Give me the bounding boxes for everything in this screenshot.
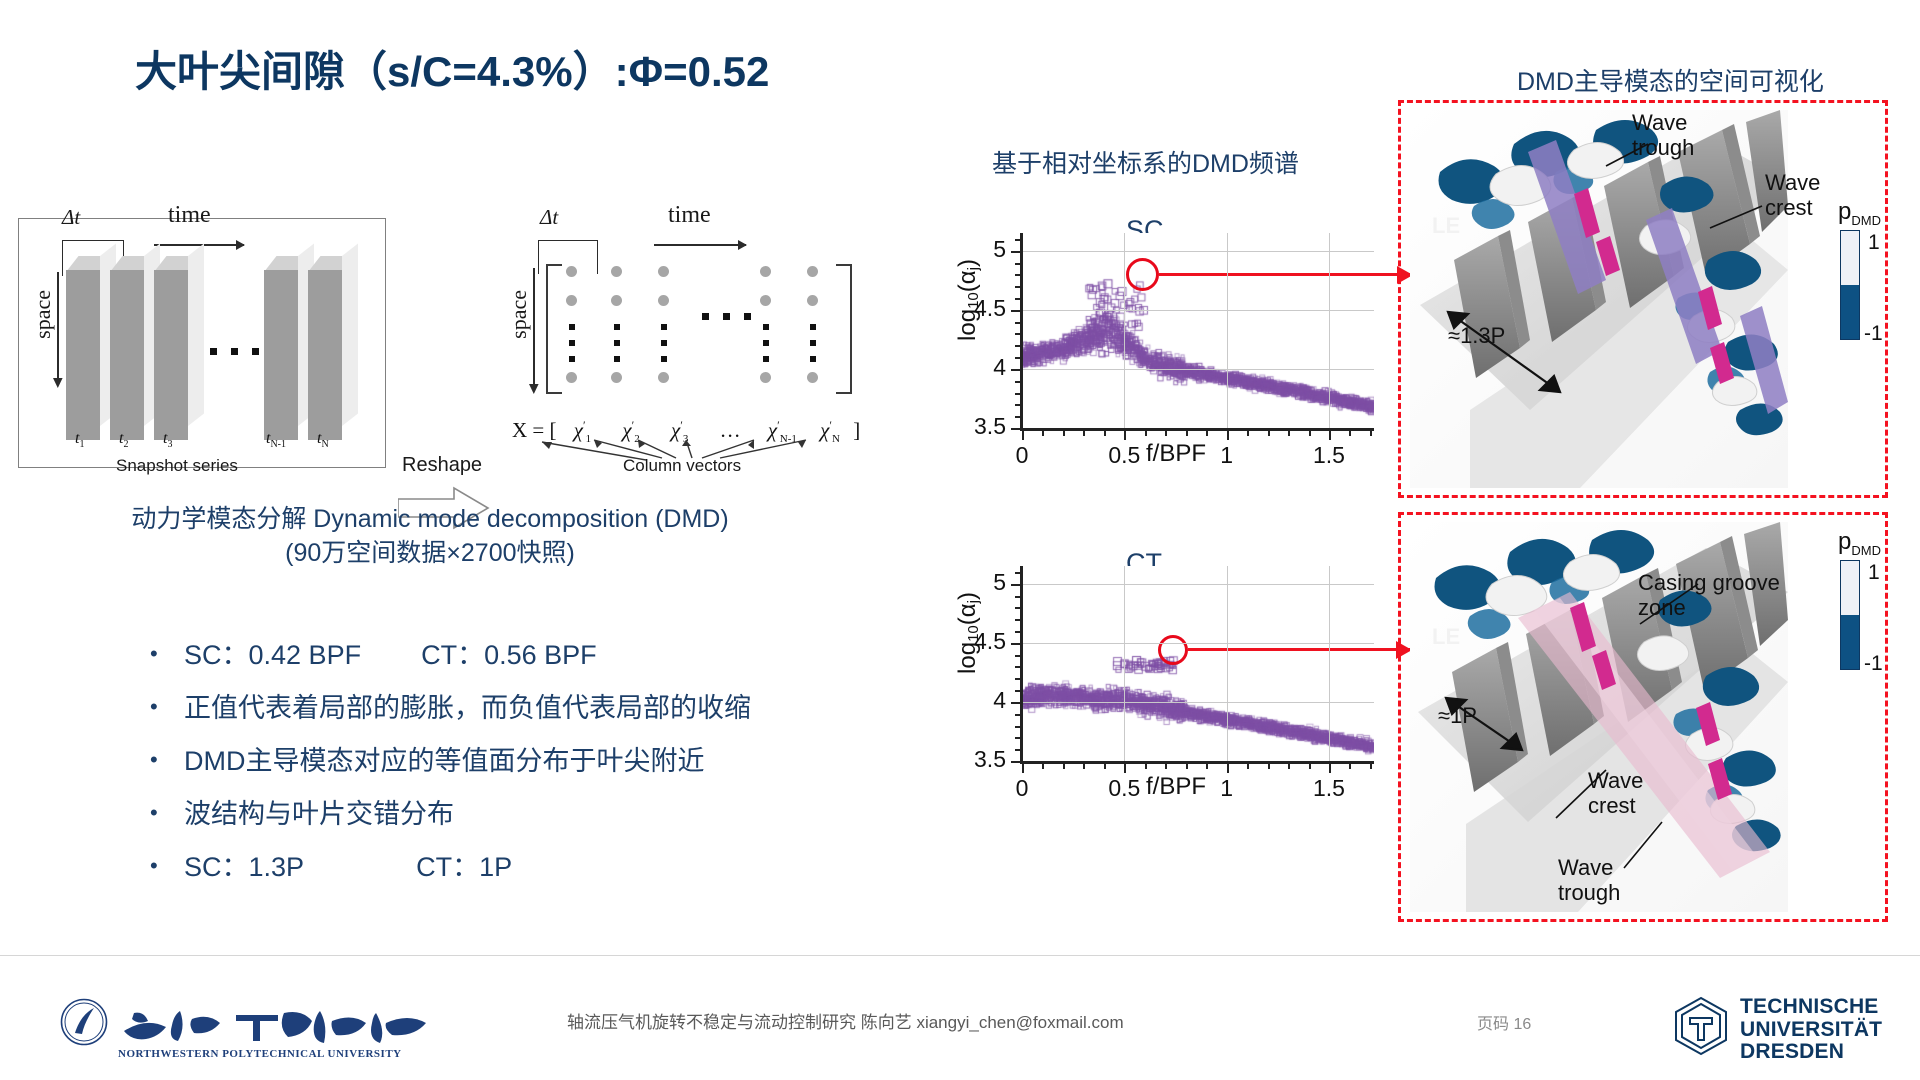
y-tick	[1011, 643, 1023, 645]
y-tick	[1015, 357, 1023, 359]
grid-line-horizontal	[1022, 643, 1374, 644]
grid-line-vertical	[1124, 566, 1125, 761]
x-tick-label: 1.5	[1304, 775, 1354, 802]
y-tick	[1015, 714, 1023, 716]
colorbar-max-bottom: 1	[1868, 561, 1880, 585]
x-tick	[1042, 428, 1044, 436]
bullet-marker-icon: •	[150, 746, 184, 775]
tud-line1: TECHNISCHE	[1740, 996, 1882, 1019]
matrix-column	[611, 266, 622, 401]
y-tick	[1015, 749, 1023, 751]
colorbar-bottom	[1840, 560, 1860, 670]
x-tick-label: 0	[997, 442, 1047, 469]
x-tick	[1124, 761, 1126, 773]
y-tick	[1015, 381, 1023, 383]
y-tick	[1015, 239, 1023, 241]
x-tick	[1206, 761, 1208, 769]
dmd-caption-line1: 动力学模态分解 Dynamic mode decomposition (DMD)	[110, 503, 750, 537]
y-tick	[1015, 345, 1023, 347]
x-tick	[1247, 428, 1249, 436]
dmd-caption-line2: (90万空间数据×2700快照)	[110, 537, 750, 571]
x-tick-label: 1	[1202, 442, 1252, 469]
list-item-text: 正值代表着局部的膨胀，而负值代表局部的收缩	[184, 693, 751, 724]
pitch-label-bottom: ≈1P	[1438, 703, 1477, 728]
x-axis-label-sc: f/BPF	[1146, 440, 1206, 468]
x-tick	[1042, 761, 1044, 769]
grid-line-horizontal	[1022, 251, 1374, 252]
x-tick	[1165, 761, 1167, 769]
y-tick-label: 4.5	[960, 628, 1006, 655]
x-axis-label-ct: f/BPF	[1146, 773, 1206, 801]
y-tick-label: 4	[960, 687, 1006, 714]
delta-t-bar-b	[538, 240, 598, 241]
list-item: • 正值代表着局部的膨胀，而负值代表局部的收缩	[150, 693, 870, 724]
dmd-schematic: Δt time space t1 t2	[18, 218, 884, 468]
y-tick	[1015, 666, 1023, 668]
delta-t-bar-a	[62, 240, 124, 241]
y-tick	[1015, 333, 1023, 335]
page-number: 页码 16	[1477, 1010, 1531, 1034]
x-tick	[1022, 761, 1024, 773]
time-tick-label: t3	[163, 430, 172, 450]
y-tick	[1015, 416, 1023, 418]
x-tick	[1022, 428, 1024, 440]
x-tick	[1227, 761, 1229, 773]
y-tick	[1011, 702, 1023, 704]
wave-crest-label-bottom: Wavecrest	[1588, 768, 1643, 819]
y-tick	[1011, 369, 1023, 371]
y-tick-label: 4.5	[960, 295, 1006, 322]
space-label-b: space	[506, 290, 532, 339]
delta-t-label-b: Δt	[540, 205, 558, 230]
x-tick	[1186, 761, 1188, 769]
chart-sc: SC log10(αj) f/BPF 3.544.5500.511.5	[960, 225, 1400, 465]
x-tick	[1268, 428, 1270, 436]
x-tick	[1206, 428, 1208, 436]
list-item-text: DMD主导模态对应的等值面分布于叶尖附近	[184, 746, 705, 777]
space-arrow-b	[533, 268, 535, 390]
x-tick	[1083, 761, 1085, 769]
highlight-circle-ct	[1158, 635, 1188, 665]
time-label-a: time	[168, 202, 211, 229]
le-label-bottom: LE	[1432, 624, 1460, 649]
delta-t-label-a: Δt	[62, 205, 80, 230]
matrix-bracket-left	[546, 264, 562, 394]
tud-logo-text: TECHNISCHE UNIVERSITÄT DRESDEN	[1740, 996, 1882, 1064]
y-tick	[1015, 678, 1023, 680]
spectra-heading: 基于相对坐标系的DMD频谱	[992, 144, 1299, 180]
pitch-label-top: ≈1.3P	[1448, 323, 1505, 348]
wave-trough-label-bottom: Wavetrough	[1558, 855, 1620, 906]
y-tick	[1015, 404, 1023, 406]
colorbar-top	[1840, 230, 1860, 340]
x-tick	[1288, 761, 1290, 769]
y-tick	[1015, 596, 1023, 598]
x-tick	[1063, 428, 1065, 436]
tud-logo-icon	[1672, 996, 1730, 1056]
ellipsis-dots-a	[210, 348, 259, 355]
delta-t-tick-b2	[597, 240, 598, 274]
callout-arrow-ct	[1188, 648, 1410, 651]
x-tick	[1288, 428, 1290, 436]
colorbar-low-bottom	[1841, 615, 1859, 669]
callout-arrow-sc	[1159, 273, 1411, 276]
space-label-a: space	[30, 290, 56, 339]
time-label-b: time	[668, 202, 711, 229]
y-tick	[1015, 572, 1023, 574]
x-tick	[1349, 428, 1351, 436]
ellipsis-dots-b	[702, 313, 751, 320]
colorbar-title-top: pDMD	[1838, 198, 1881, 228]
list-item-text: SC：1.3P CT：1P	[184, 852, 512, 883]
matrix-column	[566, 266, 577, 401]
y-tick-label: 5	[960, 236, 1006, 263]
matrix-column	[760, 266, 771, 401]
y-tick	[1011, 310, 1023, 312]
chart-ct: CT log10(αj) f/BPF 3.544.5500.511.5	[960, 558, 1400, 798]
x-tick	[1145, 761, 1147, 769]
bullet-marker-icon: •	[150, 693, 184, 722]
y-tick	[1011, 251, 1023, 253]
x-tick-label: 1.5	[1304, 442, 1354, 469]
y-tick	[1015, 286, 1023, 288]
bullet-list: • SC：0.42 BPF CT：0.56 BPF • 正值代表着局部的膨胀，而…	[150, 640, 870, 905]
x-axis	[1022, 428, 1374, 431]
nwpu-logo-icon	[60, 998, 108, 1046]
viz-heading: DMD主导模态的空间可视化	[1517, 62, 1824, 98]
y-tick	[1015, 322, 1023, 324]
wave-trough-label-top: Wavetrough	[1632, 110, 1694, 161]
blade-passage-render-top	[1410, 110, 1788, 488]
space-arrow-a	[57, 272, 59, 384]
x-tick-label: 0.5	[1099, 775, 1149, 802]
x-tick	[1370, 761, 1372, 769]
grid-line-vertical	[1227, 233, 1228, 428]
x-tick	[1063, 761, 1065, 769]
grid-line-vertical	[1329, 566, 1330, 761]
y-tick-label: 3.5	[960, 746, 1006, 773]
highlight-circle-sc	[1126, 258, 1159, 291]
list-item: • SC：0.42 BPF CT：0.56 BPF	[150, 640, 870, 671]
y-tick	[1015, 393, 1023, 395]
bullet-marker-icon: •	[150, 640, 184, 669]
casing-groove-label: Casing groovezone	[1638, 570, 1780, 621]
time-tick-label: tN-1	[266, 430, 286, 450]
y-tick-label: 4	[960, 354, 1006, 381]
snapshot-series-caption: Snapshot series	[116, 456, 238, 476]
y-tick-label: 3.5	[960, 413, 1006, 440]
colorbar-title-bottom: pDMD	[1838, 528, 1881, 558]
time-tick-label: t2	[119, 430, 128, 450]
grid-line-horizontal	[1022, 584, 1374, 585]
y-tick	[1015, 263, 1023, 265]
tud-line3: DRESDEN	[1740, 1041, 1882, 1064]
x-tick-label: 0	[997, 775, 1047, 802]
x-tick	[1186, 428, 1188, 436]
viz-top-image	[1410, 110, 1788, 488]
y-tick	[1015, 298, 1023, 300]
matrix-bracket-right	[836, 264, 852, 394]
y-tick	[1015, 737, 1023, 739]
grid-line-horizontal	[1022, 369, 1374, 370]
nwpu-logo-text: NORTHWESTERN POLYTECHNICAL UNIVERSITY	[118, 1048, 402, 1060]
y-tick	[1015, 607, 1023, 609]
colorbar-low-top	[1841, 285, 1859, 339]
list-item: • SC：1.3P CT：1P	[150, 852, 870, 883]
column-vectors-caption: Column vectors	[623, 456, 741, 476]
x-tick	[1104, 428, 1106, 436]
colorbar-max-top: 1	[1868, 231, 1880, 255]
time-arrow-b	[654, 244, 746, 246]
le-label-top: LE	[1432, 213, 1460, 238]
colorbar-min-bottom: -1	[1864, 652, 1883, 676]
matrix-formula: X = [ χ′1 χ′2 χ′3 … χ′N-1 χ′N ]	[512, 418, 860, 445]
tud-line2: UNIVERSITÄT	[1740, 1019, 1882, 1042]
matrix-column	[658, 266, 669, 401]
x-tick	[1349, 761, 1351, 769]
footer-credit: 轴流压气机旋转不稳定与流动控制研究 陈向艺 xiangyi_chen@foxma…	[567, 1008, 1124, 1033]
scatter-canvas-sc	[1022, 233, 1374, 428]
page-title: 大叶尖间隙（s/C=4.3%）:Φ=0.52	[135, 38, 769, 99]
colorbar-high-top	[1841, 231, 1859, 285]
x-tick	[1165, 428, 1167, 436]
x-tick	[1268, 761, 1270, 769]
grid-line-vertical	[1329, 233, 1330, 428]
nwpu-wordmark-cn	[118, 1005, 448, 1047]
x-tick	[1104, 761, 1106, 769]
bullet-marker-icon: •	[150, 852, 184, 881]
x-tick-label: 0.5	[1099, 442, 1149, 469]
x-tick	[1309, 761, 1311, 769]
time-tick-label: tN	[317, 430, 329, 450]
list-item-text: SC：0.42 BPF CT：0.56 BPF	[184, 640, 597, 671]
x-tick-label: 1	[1202, 775, 1252, 802]
bullet-marker-icon: •	[150, 799, 184, 828]
delta-t-tick-a1	[62, 240, 63, 276]
delta-t-tick-b1	[538, 240, 539, 274]
y-tick	[1015, 690, 1023, 692]
time-arrow-a	[154, 244, 244, 246]
list-item: • DMD主导模态对应的等值面分布于叶尖附近	[150, 746, 870, 777]
y-tick-label: 5	[960, 569, 1006, 596]
colorbar-min-top: -1	[1864, 322, 1883, 346]
grid-line-horizontal	[1022, 310, 1374, 311]
wave-crest-label-top: Wavecrest	[1765, 170, 1820, 221]
x-tick	[1247, 761, 1249, 769]
scatter-canvas-ct	[1022, 566, 1374, 761]
list-item-text: 波结构与叶片交错分布	[184, 799, 454, 830]
y-tick	[1015, 274, 1023, 276]
time-tick-label: t1	[75, 430, 84, 450]
y-tick	[1015, 619, 1023, 621]
grid-line-vertical	[1124, 233, 1125, 428]
y-tick	[1015, 726, 1023, 728]
x-tick	[1370, 428, 1372, 436]
list-item: • 波结构与叶片交错分布	[150, 799, 870, 830]
grid-line-vertical	[1227, 566, 1228, 761]
reshape-label: Reshape	[402, 454, 482, 477]
y-tick	[1015, 655, 1023, 657]
x-tick	[1309, 428, 1311, 436]
x-tick	[1227, 428, 1229, 440]
x-tick	[1124, 428, 1126, 440]
footer-divider	[0, 955, 1920, 956]
dmd-caption: 动力学模态分解 Dynamic mode decomposition (DMD)…	[110, 503, 750, 571]
x-tick	[1145, 428, 1147, 436]
x-tick	[1329, 428, 1331, 440]
x-tick	[1083, 428, 1085, 436]
colorbar-high-bottom	[1841, 561, 1859, 615]
y-tick	[1011, 584, 1023, 586]
matrix-column	[807, 266, 818, 401]
grid-line-horizontal	[1022, 702, 1374, 703]
x-tick	[1329, 761, 1331, 773]
y-tick	[1015, 631, 1023, 633]
x-axis	[1022, 761, 1374, 764]
slide-root: 大叶尖间隙（s/C=4.3%）:Φ=0.52 Δt time space	[0, 0, 1920, 1080]
